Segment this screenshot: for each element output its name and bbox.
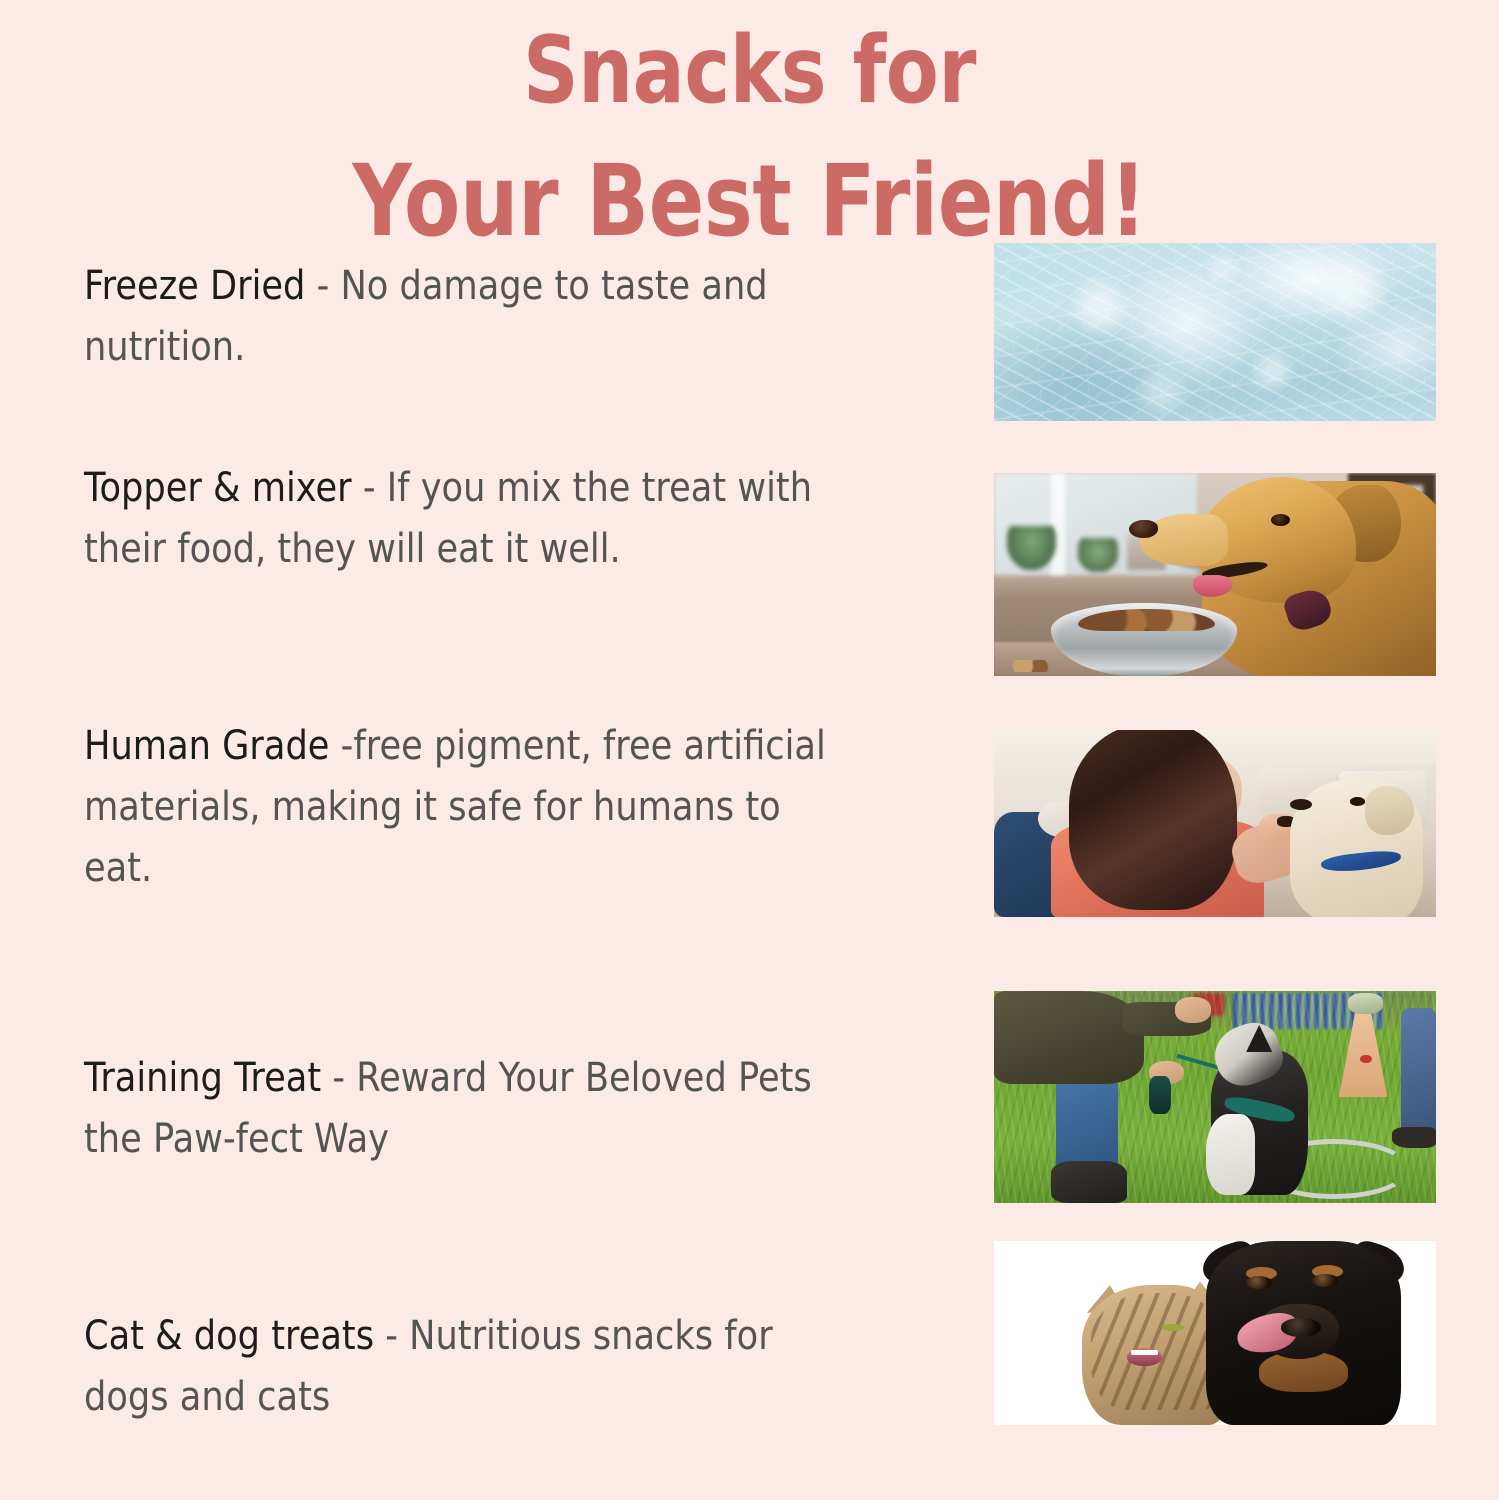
cat-teeth-shape <box>1131 1350 1158 1356</box>
feature-term: Topper & mixer <box>84 465 352 511</box>
feature-item-freeze-dried: Freeze Dried - No damage to taste and nu… <box>84 256 850 378</box>
dog-eye-shape <box>1246 1276 1273 1289</box>
dog-food-shape <box>1078 609 1215 631</box>
puppy-eye-shape <box>1350 797 1365 805</box>
feature-list: Freeze Dried - No damage to taste and nu… <box>0 236 960 1500</box>
kitchen-scene <box>994 473 1436 676</box>
media-column <box>994 236 1436 1500</box>
feature-separator: - <box>352 465 387 511</box>
bystander-leg-shape <box>1401 1008 1436 1139</box>
feature-term: Freeze Dried <box>84 263 305 309</box>
page-title: Snacks for Your Best Friend! <box>127 0 1371 271</box>
potted-plant-shape <box>1007 526 1056 571</box>
feature-term: Cat & dog treats <box>84 1313 374 1359</box>
park-scene <box>994 991 1436 1203</box>
dog-training-grass-image <box>994 991 1436 1203</box>
living-room-scene <box>994 730 1436 917</box>
husky-chest-shape <box>1206 1114 1255 1195</box>
feature-term: Training Treat <box>84 1055 321 1101</box>
trainer-hand-shape <box>1175 997 1210 1022</box>
dog-nose-shape <box>1281 1318 1321 1336</box>
woman-feeding-puppy-image <box>994 730 1436 917</box>
ice-texture-image <box>994 243 1436 421</box>
dog-eye-shape <box>1271 514 1290 526</box>
potted-plant-shape <box>1078 538 1118 573</box>
food-crumbs-shape <box>1012 660 1052 672</box>
feature-separator: - <box>321 1055 356 1101</box>
puppy-ear-shape <box>1365 786 1414 835</box>
golden-retriever-bowl-image <box>994 473 1436 676</box>
feature-term: Human Grade <box>84 723 329 769</box>
feature-item-human-grade: Human Grade -free pigment, free artifici… <box>84 716 850 898</box>
trainer-olive-jacket-shape <box>994 991 1144 1084</box>
content-area: Freeze Dried - No damage to taste and nu… <box>0 236 1499 1500</box>
feature-item-cat-dog-treats: Cat & dog treats - Nutritious snacks for… <box>84 1306 850 1428</box>
feature-separator: - <box>305 263 340 309</box>
page-title-line-1: Snacks for <box>127 6 1371 134</box>
feature-separator: - <box>329 723 353 769</box>
feature-item-training-treat: Training Treat - Reward Your Beloved Pet… <box>84 1048 850 1170</box>
cone-top-shape <box>1348 993 1383 1014</box>
clicker-shape <box>1149 1076 1171 1114</box>
cat-and-dog-image <box>994 1241 1436 1425</box>
trainer-boot-shape <box>1051 1161 1126 1203</box>
white-backdrop-scene <box>994 1241 1436 1425</box>
cone-dot-shape <box>1360 1055 1371 1063</box>
woman-hair-shape <box>1069 730 1237 910</box>
dog-eye-shape <box>1312 1274 1339 1287</box>
feature-separator: - <box>374 1313 409 1359</box>
bystander-shoe-shape <box>1392 1127 1436 1148</box>
dog-nose-shape <box>1129 520 1158 538</box>
ice-texture-scene <box>994 243 1436 421</box>
feature-item-topper-mixer: Topper & mixer - If you mix the treat wi… <box>84 458 850 580</box>
